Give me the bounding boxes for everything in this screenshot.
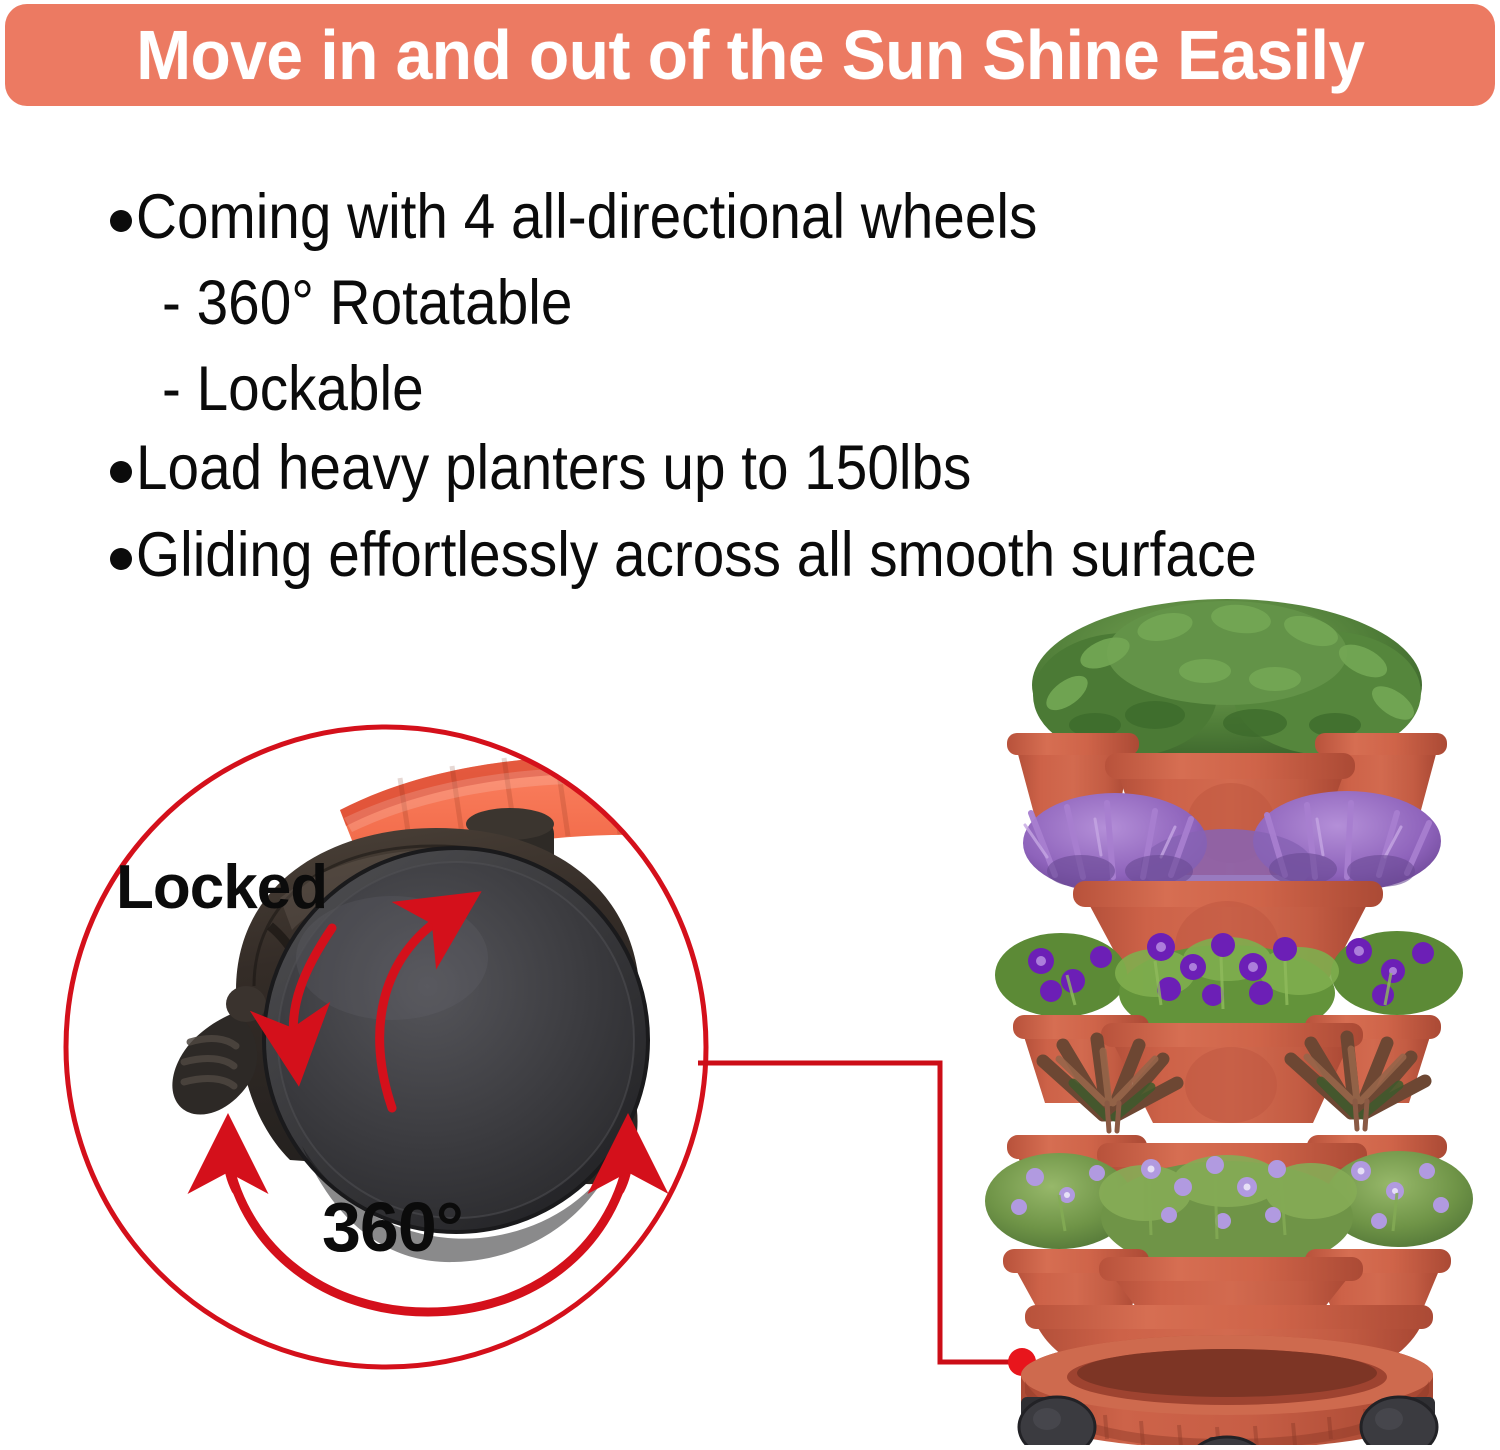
bullet-dot-icon: [110, 190, 136, 240]
product-image: [955, 575, 1500, 1445]
bullet-dot-icon: [110, 528, 136, 578]
locked-label: Locked: [116, 857, 327, 919]
stacking-planter-illustration: [955, 575, 1500, 1445]
wheel-right: [1361, 1397, 1437, 1445]
caster-callout: [40, 690, 760, 1410]
list-item: - Lockable: [110, 358, 453, 421]
page-title: Move in and out of the Sun Shine Easily: [136, 20, 1364, 90]
infographic-canvas: Move in and out of the Sun Shine Easily …: [0, 0, 1500, 1445]
feature-text: Coming with 4 all-directional wheels: [136, 186, 1037, 249]
list-item: - 360° Rotatable: [110, 272, 618, 335]
feature-subtext: - 360° Rotatable: [162, 272, 572, 335]
rotation-degree-label: 360°: [322, 1192, 463, 1262]
list-item: Load heavy planters up to 150lbs: [110, 437, 1064, 500]
list-item: Coming with 4 all-directional wheels: [110, 186, 1137, 249]
caster-diagram: [40, 690, 760, 1410]
bullet-dot-icon: [110, 441, 136, 491]
feature-text: Load heavy planters up to 150lbs: [136, 437, 971, 500]
wheel-left: [1019, 1397, 1095, 1445]
header-banner: Move in and out of the Sun Shine Easily: [5, 4, 1495, 106]
feature-subtext: - Lockable: [162, 358, 424, 421]
